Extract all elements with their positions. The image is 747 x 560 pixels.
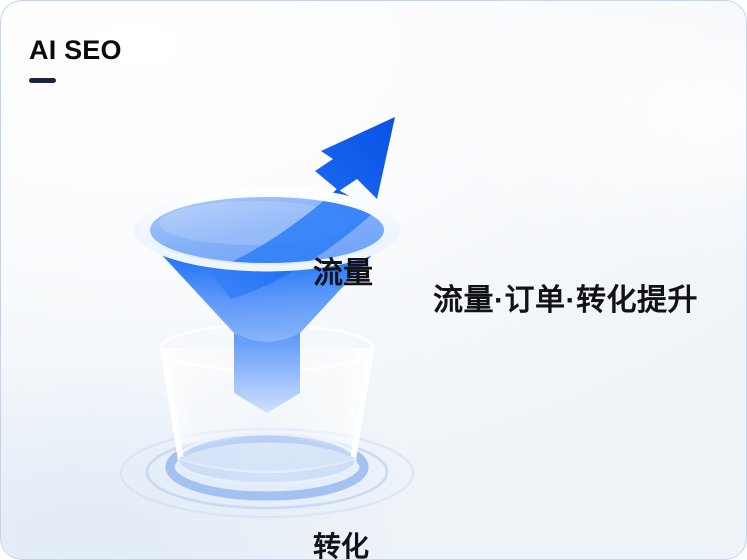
page-title-block: AI SEO — [29, 37, 122, 83]
title-underline-rule — [29, 78, 56, 83]
label-traffic: 流量 — [313, 248, 373, 292]
label-conversion: 转化 — [313, 525, 369, 560]
funnel-illustration: 流量 转化 — [89, 93, 449, 533]
tagline-text: 流量·订单·转化提升 — [433, 275, 698, 319]
illustration-card: AI SEO 流量·订单·转化提升 — [0, 0, 747, 560]
page-title: AI SEO — [29, 37, 122, 64]
funnel-illustration-svg — [89, 93, 449, 533]
